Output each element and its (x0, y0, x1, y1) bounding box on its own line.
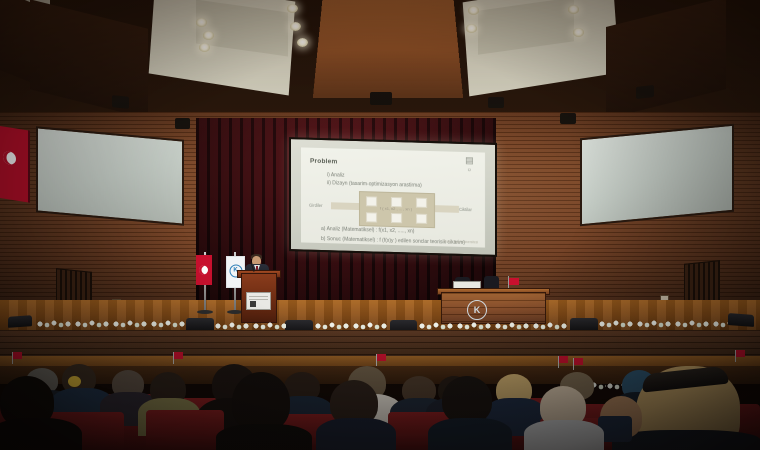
diagram-cell (366, 196, 377, 206)
auditorium-photo: Problem ▤ Ü i) Analiz ii) Dizayn (tasari… (0, 0, 760, 450)
sign-mark-icon (250, 301, 256, 307)
ceiling-spotlight (466, 24, 477, 33)
ceiling-beam-far-left (0, 0, 40, 86)
head-table-chair (484, 276, 499, 288)
crescent-shape (3, 150, 16, 165)
audience-shoulders-front (428, 418, 512, 450)
desk-turkish-flag (574, 358, 583, 365)
audience-shoulders-front (216, 424, 312, 450)
diagram-block: f ( x1, x2 , ... , xn ) (359, 191, 435, 228)
ceiling-spotlight (290, 22, 301, 31)
audience-shoulders-front (0, 418, 82, 450)
presentation-slide: Problem ▤ Ü i) Analiz ii) Dizayn (tasari… (301, 147, 485, 247)
desk-turkish-flag (559, 356, 568, 363)
ceiling-spotlight (199, 43, 210, 52)
wall-speaker (370, 92, 392, 105)
hair-tie-accessory (68, 376, 81, 387)
slide-title: Problem (310, 158, 337, 166)
audience-seat-front (146, 410, 224, 450)
diagram-output-label: Ciktilar (459, 207, 472, 212)
podium-sign (246, 292, 271, 310)
stage-monitor (8, 315, 32, 328)
university-emblem-icon: K (467, 300, 487, 320)
diagram-block-label: f ( x1, x2 , ... , xn ) (380, 206, 412, 212)
ceiling-beam-center (313, 0, 463, 98)
desk-turkish-flag (736, 350, 745, 357)
sign-line (249, 299, 268, 300)
audience-shoulders-front (316, 418, 396, 450)
slide-bullet-1: i) Analiz (327, 172, 345, 178)
stage-flower-row (36, 320, 186, 329)
slide-note-1: a) Analiz (Matematiksel) : f(x1, x2, ...… (321, 226, 414, 235)
audience-head-front (232, 372, 290, 432)
diagram-cell (416, 198, 427, 208)
slide-bullet-2: ii) Dizayn (tasarim-optimizasyon arastir… (327, 180, 422, 189)
stage-flower-row (598, 320, 728, 329)
wall-turkish-banner (0, 125, 30, 202)
diagram-cell (391, 213, 402, 223)
audience-head-front (442, 376, 492, 424)
logo-subtext: Ü (462, 165, 477, 174)
university-logo-icon: ▤ Ü (462, 156, 477, 172)
main-projection-screen: Problem ▤ Ü i) Analiz ii) Dizayn (tasari… (289, 137, 497, 257)
desk-turkish-flag (174, 352, 183, 359)
flag-base (197, 310, 213, 314)
stage-monitor (728, 313, 754, 327)
wall-speaker (175, 118, 190, 129)
wall-speaker (636, 85, 654, 99)
logo-glyph: ▤ (465, 155, 474, 165)
ceiling-spotlight (203, 31, 214, 40)
ceiling-spotlight (568, 5, 579, 14)
diagram-input-label: Girdiler (309, 203, 323, 208)
diagram-input-arrow (331, 202, 361, 210)
wall-speaker (560, 113, 576, 124)
turkish-flag (196, 255, 212, 285)
audience-shoulders-front (524, 420, 604, 450)
side-projection-screen-right (580, 124, 734, 227)
ceiling-spotlight (573, 28, 584, 37)
ceiling-spotlight (287, 4, 298, 13)
wall-speaker (112, 95, 129, 109)
diagram-cell (416, 214, 427, 224)
crescent-shape (199, 266, 208, 275)
head-table-turkish-flag (509, 278, 519, 285)
ceiling-spotlight (468, 6, 479, 15)
diagram-cell (366, 212, 377, 222)
ceiling-spotlight (196, 18, 207, 27)
ceiling-beam-left (30, 0, 148, 119)
head-table (441, 292, 546, 324)
desk-turkish-flag (377, 354, 386, 361)
sign-line (249, 296, 268, 297)
desk-turkish-flag (13, 352, 22, 359)
ceiling-beam-right (606, 0, 726, 119)
wall-speaker (488, 97, 504, 108)
ceiling-spotlight (297, 38, 308, 47)
side-projection-screen-left (36, 126, 184, 225)
diagram-output-arrow (431, 205, 459, 213)
